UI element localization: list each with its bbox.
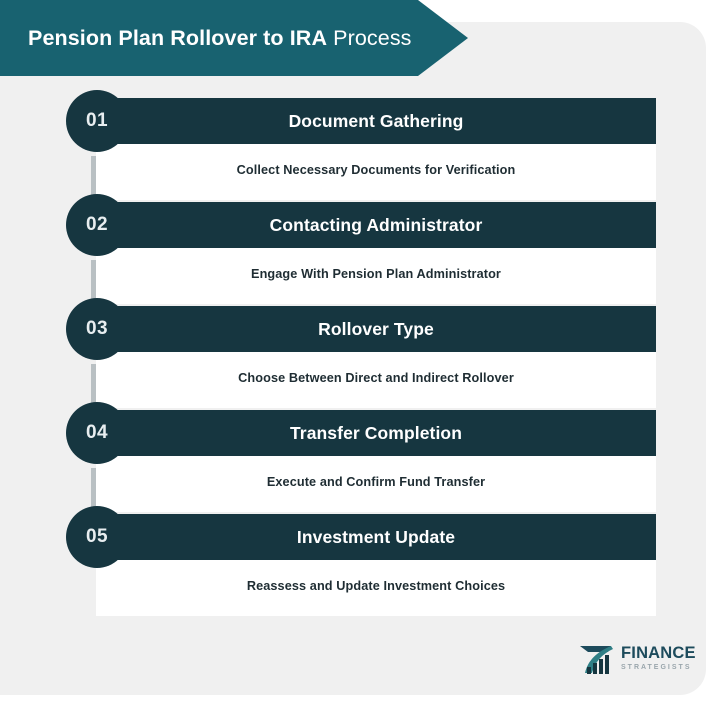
step-item: Collect Necessary Documents for Verifica…: [0, 104, 720, 208]
step-item: Execute and Confirm Fund Transfer Transf…: [0, 416, 720, 520]
page-title-strong: Pension Plan Rollover to IRA: [28, 26, 327, 50]
step-number-badge: 01: [66, 90, 128, 152]
infographic-root: Pension Plan Rollover to IRA Process Col…: [0, 0, 720, 705]
step-title-bar: Rollover Type: [96, 306, 656, 352]
finance-strategists-logo-icon: [577, 640, 617, 676]
step-subtitle: Reassess and Update Investment Choices: [207, 579, 545, 593]
step-title: Contacting Administrator: [200, 215, 553, 236]
step-subtitle-bar: Engage With Pension Plan Administrator: [96, 244, 656, 304]
step-title: Transfer Completion: [220, 423, 532, 444]
step-number: 02: [86, 214, 108, 236]
step-item: Engage With Pension Plan Administrator C…: [0, 208, 720, 312]
brand-logo: FINANCE STRATEGISTS: [577, 637, 687, 679]
page-title: Pension Plan Rollover to IRA Process: [28, 26, 412, 51]
step-title-bar: Investment Update: [96, 514, 656, 560]
steps-list: Collect Necessary Documents for Verifica…: [0, 104, 720, 624]
step-number: 01: [86, 110, 108, 132]
step-subtitle-bar: Collect Necessary Documents for Verifica…: [96, 140, 656, 200]
step-title: Document Gathering: [219, 111, 534, 132]
header-banner: Pension Plan Rollover to IRA Process: [0, 0, 468, 76]
step-number: 03: [86, 318, 108, 340]
step-number: 05: [86, 526, 108, 548]
step-title-bar: Transfer Completion: [96, 410, 656, 456]
step-item: Reassess and Update Investment Choices I…: [0, 520, 720, 624]
step-subtitle-bar: Reassess and Update Investment Choices: [96, 556, 656, 616]
step-subtitle-bar: Execute and Confirm Fund Transfer: [96, 452, 656, 512]
step-title-bar: Document Gathering: [96, 98, 656, 144]
step-subtitle: Execute and Confirm Fund Transfer: [227, 475, 525, 489]
step-title-bar: Contacting Administrator: [96, 202, 656, 248]
step-subtitle: Choose Between Direct and Indirect Rollo…: [198, 371, 554, 385]
step-number: 04: [86, 422, 108, 444]
step-number-badge: 05: [66, 506, 128, 568]
step-number-badge: 02: [66, 194, 128, 256]
step-subtitle-bar: Choose Between Direct and Indirect Rollo…: [96, 348, 656, 408]
step-number-badge: 03: [66, 298, 128, 360]
page-title-light: Process: [327, 26, 411, 50]
step-title: Rollover Type: [248, 319, 504, 340]
step-item: Choose Between Direct and Indirect Rollo…: [0, 312, 720, 416]
step-subtitle: Collect Necessary Documents for Verifica…: [197, 163, 556, 177]
logo-primary-text: FINANCE: [621, 645, 696, 662]
step-subtitle: Engage With Pension Plan Administrator: [211, 267, 541, 281]
step-number-badge: 04: [66, 402, 128, 464]
logo-wordmark: FINANCE STRATEGISTS: [621, 645, 696, 671]
step-title: Investment Update: [227, 527, 525, 548]
logo-secondary-text: STRATEGISTS: [621, 664, 696, 671]
